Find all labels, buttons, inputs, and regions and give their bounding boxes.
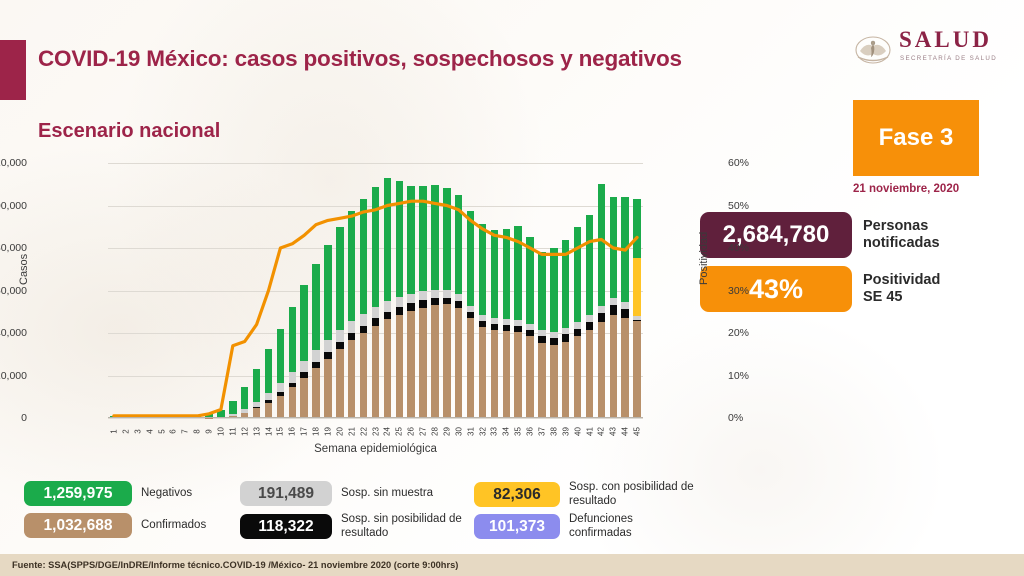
x-tick-label: 13 [252,424,261,440]
kpi-value-notificadas: 2,684,780 [700,212,852,258]
y-tick-right: 50% [728,200,774,212]
x-axis-ticks: 1234567891011121314151617181920212223242… [108,421,643,443]
phase-badge: Fase 3 [853,100,979,176]
x-tick-label: 24 [383,424,392,440]
x-tick-label: 6 [169,424,178,440]
y-tick-right: 10% [728,370,774,382]
legend-label: Sosp. con posibilidad deresultado [569,481,694,508]
legend-label-line2: confirmadas [569,527,633,541]
y-tick-left: 20,000 [0,370,27,382]
legend-item: 1,032,688Confirmados [24,513,206,538]
legend-value-chip: 1,259,975 [24,481,132,506]
x-tick-label: 37 [537,424,546,440]
legend-label: Sosp. sin posibilidad deresultado [341,513,462,540]
legend-label-line2: resultado [569,495,694,509]
x-tick-label: 7 [181,424,190,440]
x-tick-label: 23 [371,424,380,440]
kpi-label-notificadas: Personas notificadas [863,218,940,251]
x-tick-label: 35 [514,424,523,440]
x-tick-label: 32 [478,424,487,440]
y-tick-left: 0 [0,412,27,424]
positivity-line-series [108,163,643,418]
x-tick-label: 20 [335,424,344,440]
legend-label: Negativos [141,487,192,501]
x-tick-label: 15 [276,424,285,440]
x-tick-label: 45 [633,424,642,440]
legend-value-chip: 101,373 [474,514,560,539]
positivity-line [114,201,637,416]
x-tick-label: 9 [205,424,214,440]
x-tick-label: 2 [121,424,130,440]
x-tick-label: 22 [359,424,368,440]
x-tick-label: 10 [216,424,225,440]
kpi-value-positividad: 43% [700,266,852,312]
x-tick-label: 30 [454,424,463,440]
x-tick-label: 28 [430,424,439,440]
x-tick-label: 4 [145,424,154,440]
x-tick-label: 18 [312,424,321,440]
x-tick-label: 8 [193,424,202,440]
x-tick-label: 25 [395,424,404,440]
footer-bar: Fuente: SSA(SPPS/DGE/InDRE/Informe técni… [0,554,1024,576]
x-tick-label: 31 [466,424,475,440]
legend-value-chip: 118,322 [240,514,332,539]
x-tick-label: 36 [526,424,535,440]
gridline [108,418,643,419]
legend-label-line1: Sosp. sin posibilidad de [341,513,462,527]
x-tick-label: 5 [157,424,166,440]
phase-label: Fase 3 [879,124,954,152]
chart-legend: 1,259,975Negativos1,032,688Confirmados19… [24,481,704,543]
legend-value-chip: 1,032,688 [24,513,132,538]
legend-label: Sosp. sin muestra [341,487,433,501]
y-tick-right: 20% [728,327,774,339]
kpi-label-notificadas-l2: notificadas [863,235,940,252]
y-tick-left: 40,000 [0,327,27,339]
x-tick-label: 43 [609,424,618,440]
kpi-label-positividad-l1: Positividad [863,272,940,289]
x-tick-label: 26 [407,424,416,440]
x-tick-label: 29 [442,424,451,440]
x-tick-label: 1 [109,424,118,440]
mexico-eagle-seal-icon [853,30,893,70]
y-tick-left: 120,000 [0,157,27,169]
legend-item: 191,489Sosp. sin muestra [240,481,433,506]
x-tick-label: 38 [549,424,558,440]
legend-label-line1: Sosp. con posibilidad de [569,481,694,495]
y-tick-left: 80,000 [0,242,27,254]
legend-item: 82,306Sosp. con posibilidad deresultado [474,481,694,508]
kpi-label-positividad: Positividad SE 45 [863,272,940,305]
y-tick-right: 60% [728,157,774,169]
x-tick-label: 12 [240,424,249,440]
kpi-label-notificadas-l1: Personas [863,218,940,235]
x-tick-label: 34 [502,424,511,440]
salud-subtitle: SECRETARÍA DE SALUD [900,55,997,62]
legend-value-chip: 82,306 [474,482,560,507]
salud-logo: SALUD SECRETARÍA DE SALUD [853,28,1013,74]
legend-value-chip: 191,489 [240,481,332,506]
kpi-label-positividad-l2: SE 45 [863,289,940,306]
x-tick-label: 33 [490,424,499,440]
y-axis-title-right: Positividad [698,232,710,285]
legend-item: 118,322Sosp. sin posibilidad deresultado [240,513,462,540]
x-tick-label: 39 [561,424,570,440]
legend-label-line1: Defunciones [569,513,633,527]
x-tick-label: 11 [228,424,237,440]
legend-label: Defuncionesconfirmadas [569,513,633,540]
x-tick-label: 42 [597,424,606,440]
legend-label-line1: Sosp. sin muestra [341,487,433,501]
x-tick-label: 27 [419,424,428,440]
report-date: 21 noviembre, 2020 [853,183,1023,195]
x-axis-line [108,417,643,418]
x-tick-label: 19 [323,424,332,440]
x-tick-label: 14 [264,424,273,440]
legend-label-line2: resultado [341,527,462,541]
legend-label: Confirmados [141,519,206,533]
slide-root: COVID-19 México: casos positivos, sospec… [0,0,1024,576]
legend-label-line1: Confirmados [141,519,206,533]
y-tick-right: 0% [728,412,774,424]
y-tick-right: 30% [728,285,774,297]
plot-area: 020,00040,00060,00080,000100,000120,000 … [108,163,643,418]
y-tick-left: 60,000 [0,285,27,297]
x-tick-label: 16 [288,424,297,440]
x-tick-label: 17 [300,424,309,440]
x-tick-label: 40 [573,424,582,440]
x-axis-title: Semana epidemiológica [108,443,643,455]
footer-source: Fuente: SSA(SPPS/DGE/InDRE/Informe técni… [12,560,458,570]
y-tick-right: 40% [728,242,774,254]
left-accent-bar [0,40,26,100]
legend-item: 1,259,975Negativos [24,481,192,506]
y-axis-title-left: Casos [18,254,30,285]
x-tick-label: 41 [585,424,594,440]
salud-wordmark: SALUD [899,27,992,53]
legend-item: 101,373Defuncionesconfirmadas [474,513,633,540]
x-tick-label: 3 [133,424,142,440]
page-subtitle: Escenario nacional [38,120,220,143]
page-title: COVID-19 México: casos positivos, sospec… [38,46,718,72]
chart-epidemic-curve: Casos Positividad 020,00040,00060,00080,… [30,155,690,455]
x-tick-label: 44 [621,424,630,440]
x-tick-label: 21 [347,424,356,440]
y-tick-left: 100,000 [0,200,27,212]
legend-label-line1: Negativos [141,487,192,501]
